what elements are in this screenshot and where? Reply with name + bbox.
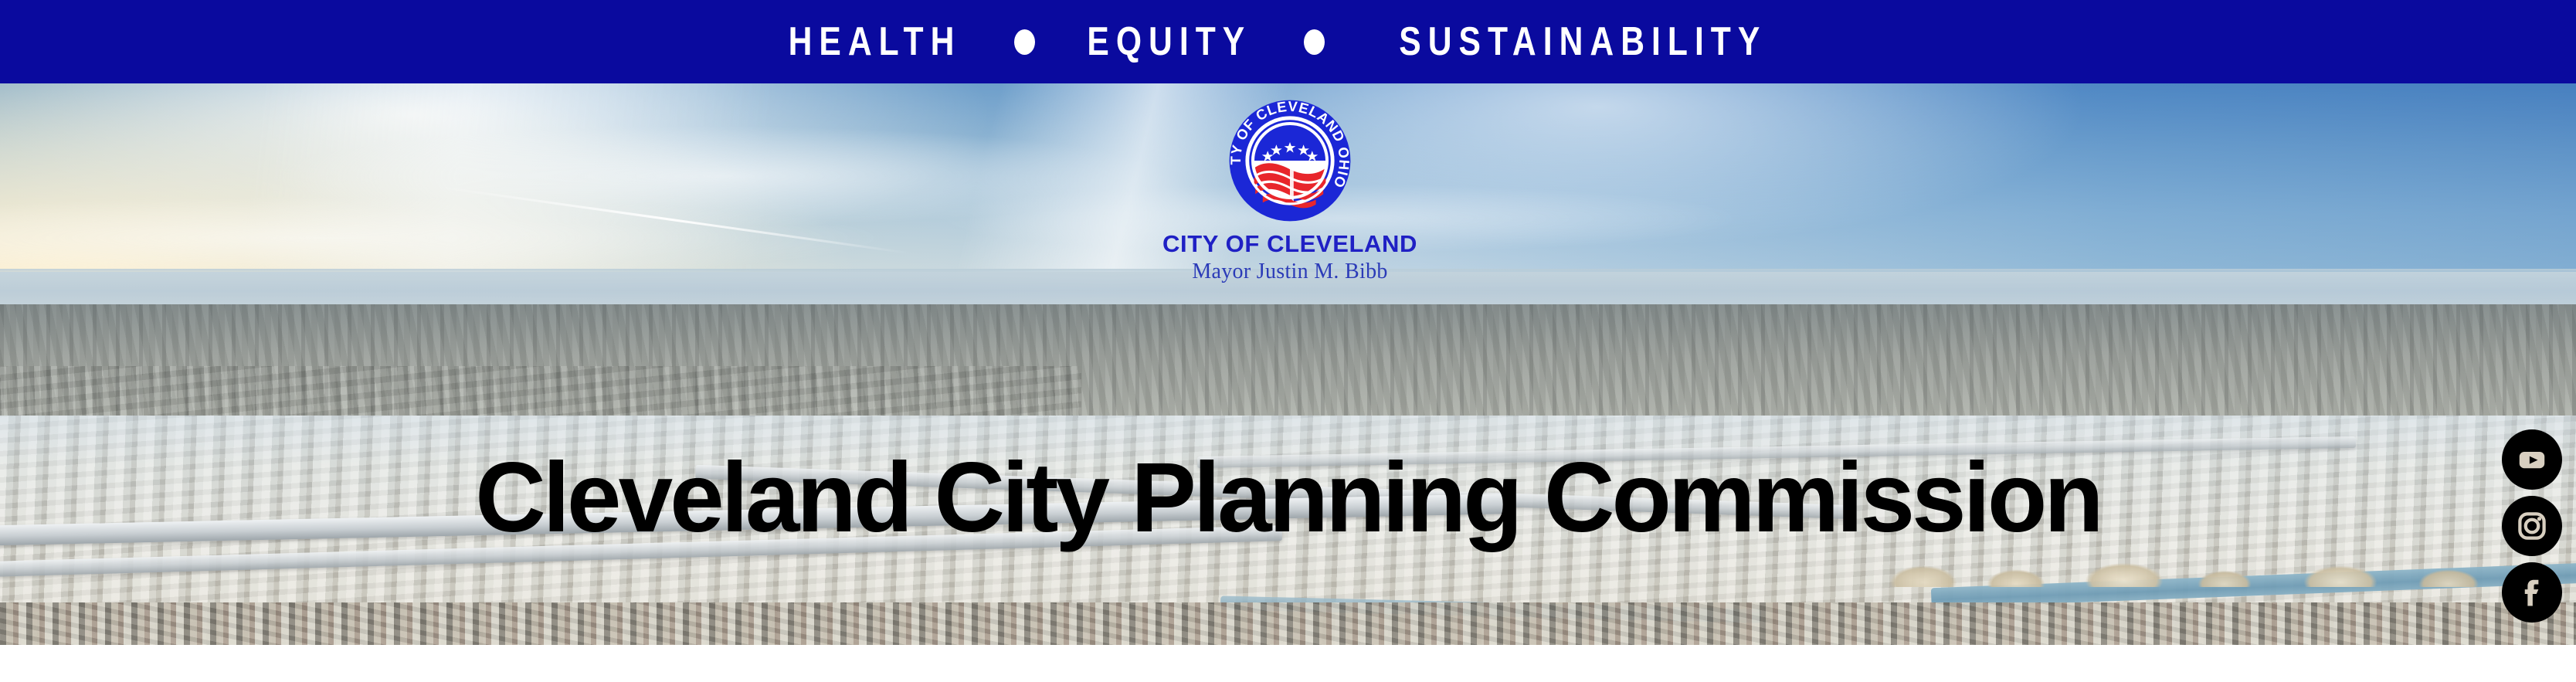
tagline-word-health: HEALTH — [788, 22, 961, 62]
tagline-word-equity: EQUITY — [1087, 22, 1251, 62]
youtube-icon[interactable] — [2502, 429, 2562, 490]
page-title: Cleveland City Planning Commission — [13, 449, 2564, 548]
page-root: HEALTH EQUITY SUSTAINABILITY — [0, 0, 2576, 682]
seal-city-name: CITY OF CLEVELAND — [1120, 232, 1460, 256]
instagram-icon[interactable] — [2502, 496, 2562, 556]
tagline-banner: HEALTH EQUITY SUSTAINABILITY — [0, 0, 2576, 83]
tagline-text: HEALTH EQUITY SUSTAINABILITY — [769, 22, 1807, 62]
bullet-dot-icon — [1014, 29, 1035, 55]
bullet-dot-icon — [1304, 29, 1325, 55]
tagline-word-sustainability: SUSTAINABILITY — [1399, 22, 1767, 62]
city-seal-block: CITY OF CLEVELAND OHIO — [1120, 99, 1460, 283]
seal-mayor-name: Mayor Justin M. Bibb — [1120, 261, 1460, 283]
bottom-white-strip — [0, 645, 2576, 682]
city-of-cleveland-seal-icon: CITY OF CLEVELAND OHIO — [1228, 99, 1352, 222]
facebook-icon[interactable] — [2502, 562, 2562, 623]
social-links — [2502, 429, 2562, 623]
foreground-rooftops — [0, 602, 2576, 645]
